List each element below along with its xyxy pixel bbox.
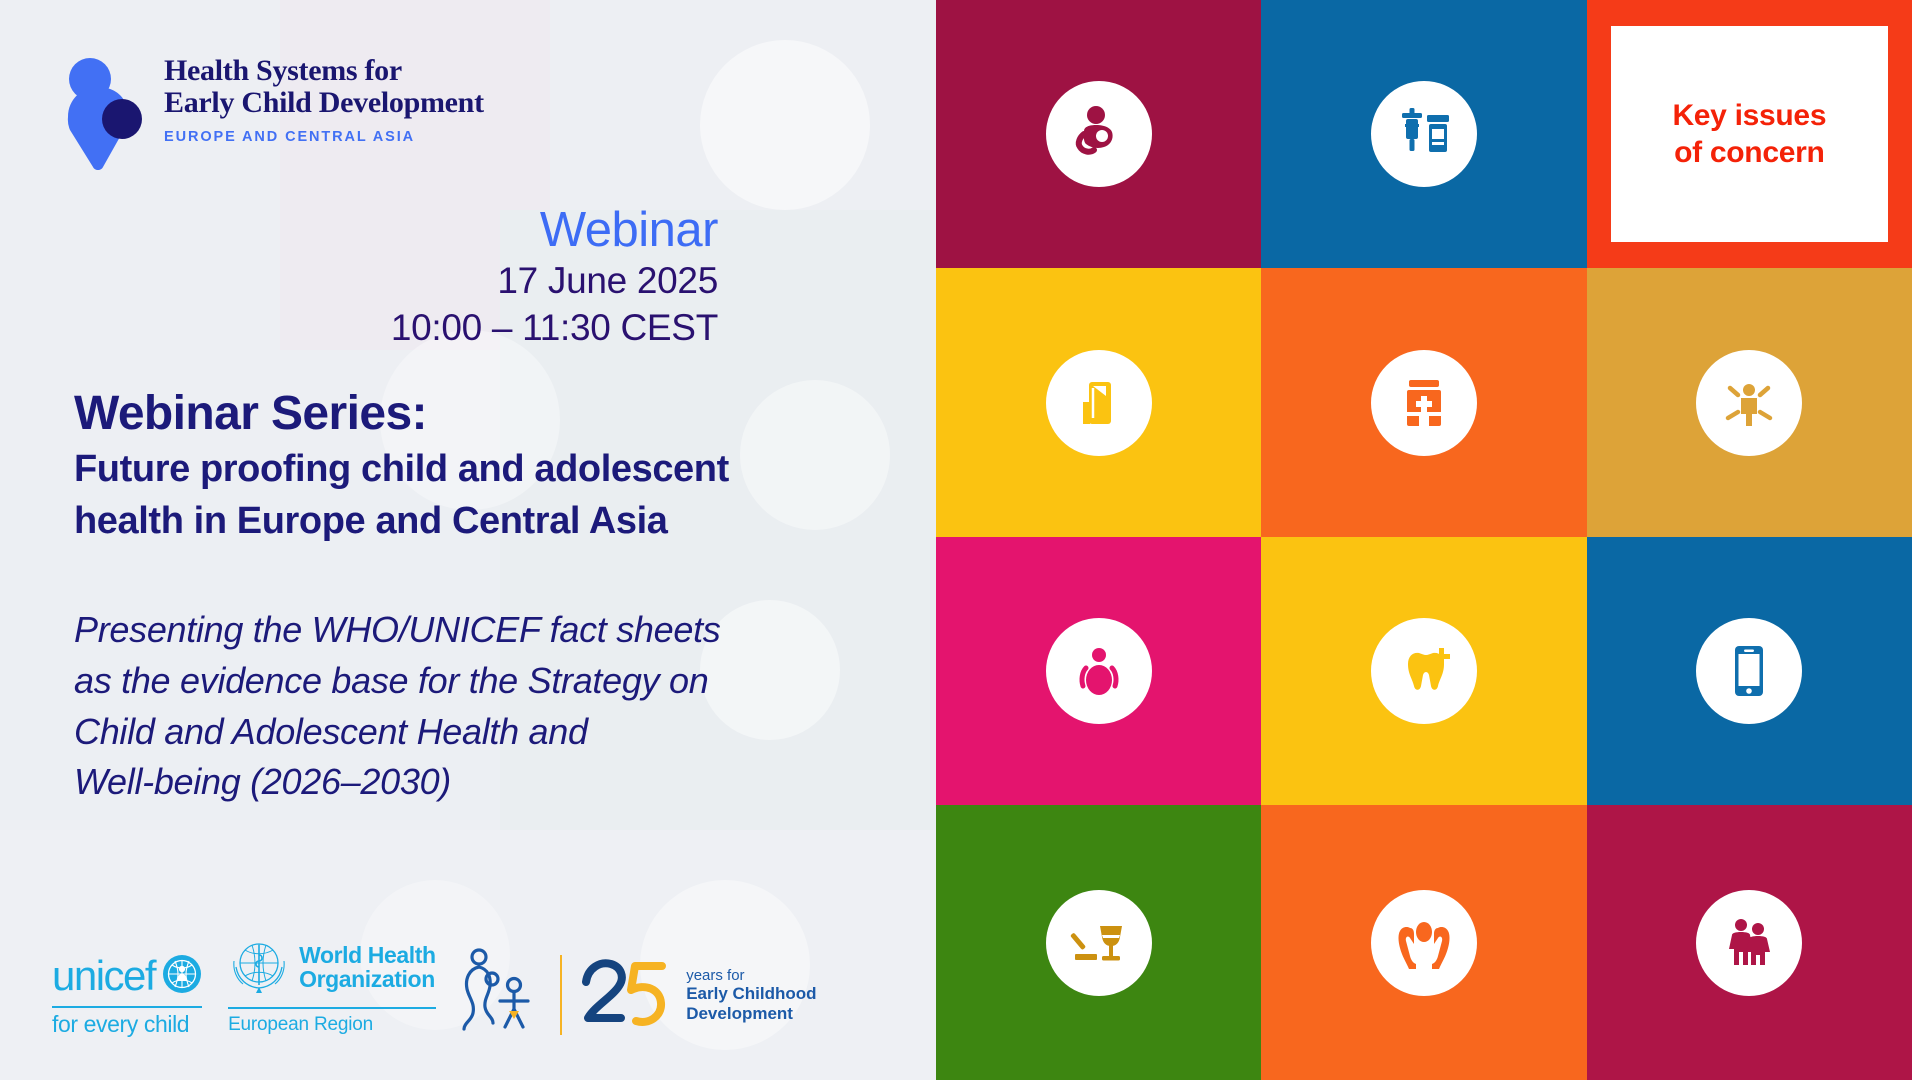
tile-care-protection <box>1261 805 1586 1080</box>
dental-health-icon <box>1393 640 1455 702</box>
partner-logos: unicef for every child <box>52 937 817 1036</box>
hsecd-logo-subtitle: EUROPE AND CENTRAL ASIA <box>164 129 484 145</box>
icon-disc <box>1371 618 1477 724</box>
who-divider <box>228 1007 436 1009</box>
key-issues-text: Key issues of concern <box>1672 97 1826 171</box>
tile-overweight-obesity <box>936 537 1261 805</box>
child-wellbeing-icon <box>1718 372 1780 434</box>
event-kicker: Webinar <box>391 205 718 257</box>
who-logo: World Health Organization European Regio… <box>228 937 436 1036</box>
who-wordmark-line1: World Health <box>299 942 436 968</box>
icon-disc <box>1046 81 1152 187</box>
headline-line3: health in Europe and Central Asia <box>74 498 729 544</box>
unicef-logo: unicef for every child <box>52 954 202 1037</box>
watermark-circle-3 <box>740 380 890 530</box>
icon-disc <box>1696 350 1802 456</box>
description-line3: Child and Adolescent Health and <box>74 707 720 758</box>
nutrition-icon <box>1068 372 1130 434</box>
who-wordmark: World Health Organization <box>299 944 436 992</box>
event-time: 10:00 – 11:30 CEST <box>391 304 718 351</box>
unicef-wordmark: unicef <box>52 955 155 997</box>
icon-disc <box>1696 890 1802 996</box>
event-details: Webinar 17 June 2025 10:00 – 11:30 CEST <box>391 205 718 352</box>
tile-vaccination <box>1261 0 1586 268</box>
headline-line2: Future proofing child and adolescent <box>74 446 729 492</box>
unicef-tagline: for every child <box>52 1013 202 1036</box>
description-line1: Presenting the WHO/UNICEF fact sheets <box>74 605 720 656</box>
unicef-emblem-icon <box>162 954 202 999</box>
mobile-device-icon <box>1718 640 1780 702</box>
icon-disc <box>1371 890 1477 996</box>
tile-health-services <box>1261 268 1586 537</box>
who-emblem-icon <box>228 937 290 1000</box>
tile-digital-technology <box>1587 537 1912 805</box>
ecd-label-line2: Early Childhood <box>686 984 816 1004</box>
obesity-icon <box>1068 640 1130 702</box>
description-line4: Well-being (2026–2030) <box>74 757 720 808</box>
watermark-circle-1 <box>700 40 870 210</box>
watermark-circle-4 <box>700 600 840 740</box>
ecd-years-label: years for <box>686 967 816 984</box>
hsecd-logo: Health Systems for Early Child Developme… <box>60 55 484 170</box>
tile-adolescent-health <box>1587 805 1912 1080</box>
25-numeral-icon <box>576 954 672 1036</box>
who-wordmark-line2: Organization <box>299 966 435 992</box>
tile-child-wellbeing <box>1587 268 1912 537</box>
ecd-figures-icon <box>462 945 534 1031</box>
tile-substance-use <box>936 805 1261 1080</box>
description-line2: as the evidence base for the Strategy on <box>74 656 720 707</box>
key-issues-panel: Key issues of concern <box>1611 26 1888 242</box>
unicef-divider <box>52 1006 202 1009</box>
icon-disc <box>1046 890 1152 996</box>
who-tagline: European Region <box>228 1014 436 1036</box>
icon-disc <box>1371 81 1477 187</box>
icon-disc <box>1046 618 1152 724</box>
key-issues-line1: Key issues <box>1672 99 1826 132</box>
ecd-label-line3: Development <box>686 1004 816 1024</box>
left-content-panel: Health Systems for Early Child Developme… <box>0 0 936 1080</box>
hsecd-logo-mark <box>60 55 148 170</box>
hsecd-logo-name-line1: Health Systems for <box>164 55 484 87</box>
vaccination-icon <box>1393 103 1455 165</box>
icon-tile-grid: Key issues of concern <box>936 0 1912 1080</box>
logo-divider <box>560 955 563 1035</box>
tile-nutrition <box>936 268 1261 537</box>
ecd-figures-logo <box>462 945 534 1036</box>
substance-use-icon <box>1068 912 1130 974</box>
tile-oral-health <box>1261 537 1586 805</box>
breastfeeding-icon <box>1068 103 1130 165</box>
hsecd-logo-name-line2: Early Child Development <box>164 87 484 119</box>
caring-hands-icon <box>1393 912 1455 974</box>
icon-disc <box>1046 350 1152 456</box>
tile-key-issues-callout: Key issues of concern <box>1587 0 1912 268</box>
headline-line1: Webinar Series: <box>74 388 729 440</box>
adolescents-icon <box>1718 912 1780 974</box>
event-date: 17 June 2025 <box>391 257 718 304</box>
tile-breastfeeding <box>936 0 1261 268</box>
25-years-ecd-logo: years for Early Childhood Development <box>560 954 817 1036</box>
webinar-promo-slide: Health Systems for Early Child Developme… <box>0 0 1912 1080</box>
icon-disc <box>1696 618 1802 724</box>
hospital-icon <box>1393 372 1455 434</box>
key-issues-line2: of concern <box>1674 136 1824 169</box>
description-text: Presenting the WHO/UNICEF fact sheets as… <box>74 605 720 808</box>
page-title: Webinar Series: Future proofing child an… <box>74 388 729 545</box>
icon-disc <box>1371 350 1477 456</box>
